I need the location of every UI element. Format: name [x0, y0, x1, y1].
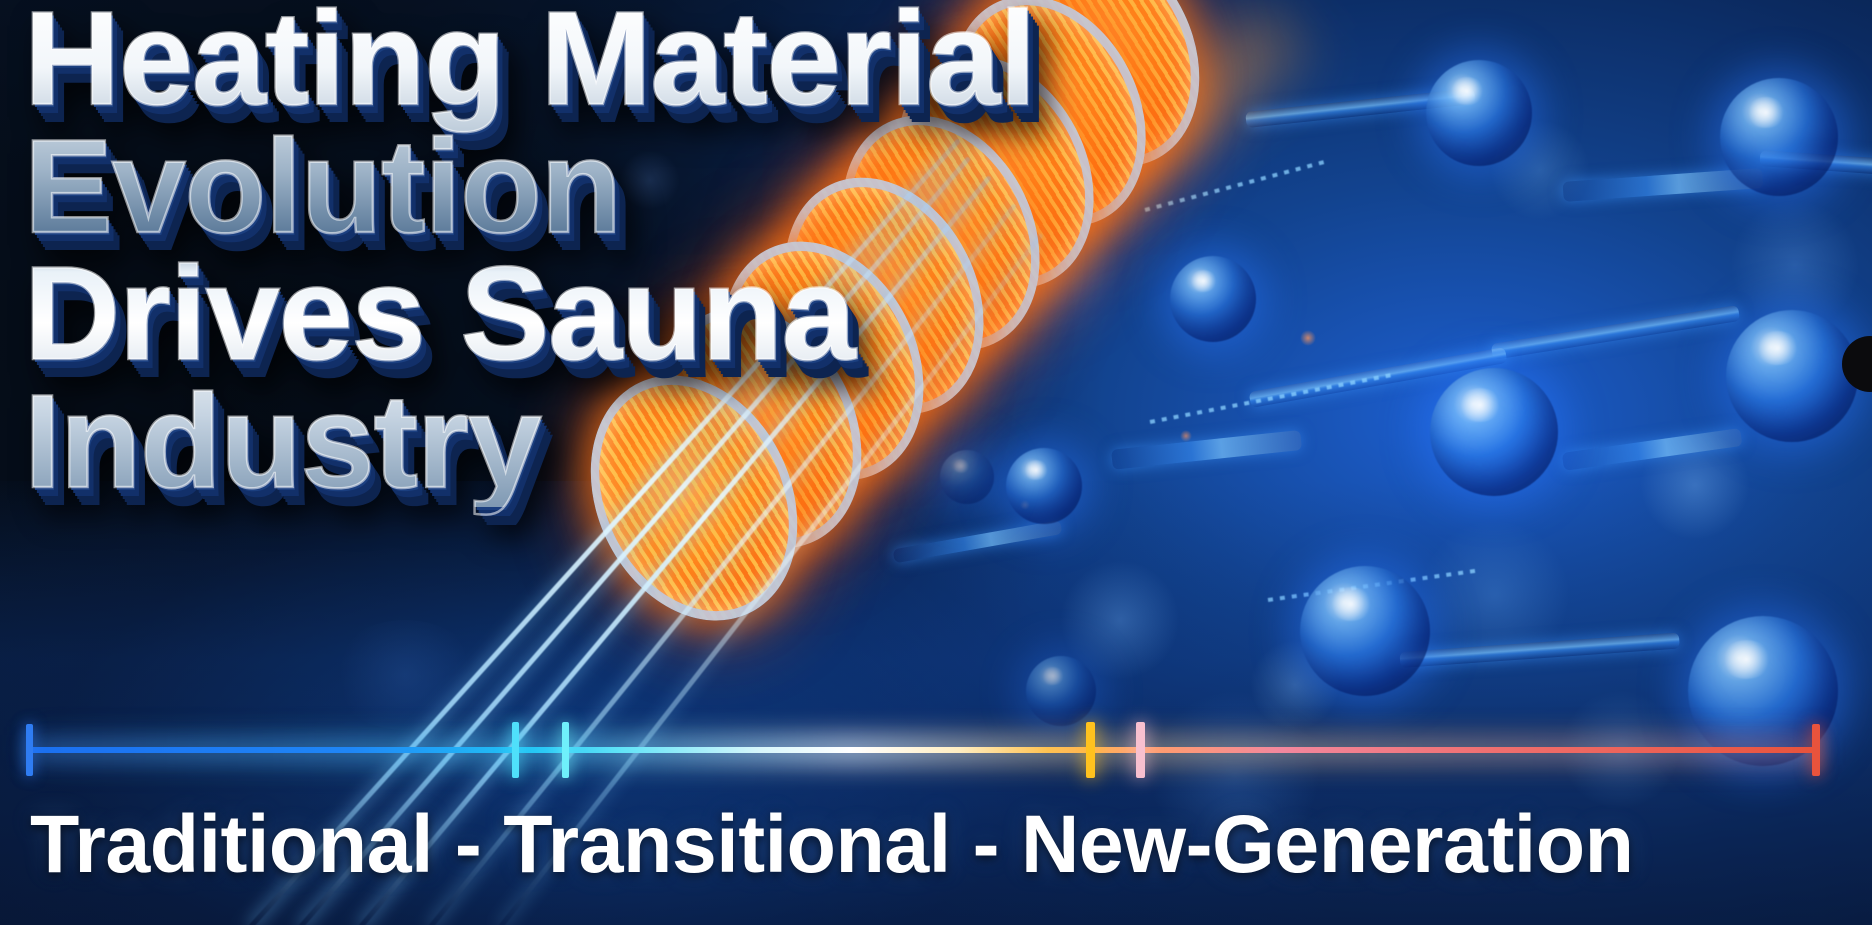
molecule-bond [1491, 305, 1740, 360]
molecule-atom [1720, 78, 1838, 196]
banner-graphic: Heating Material Evolution Drives Sauna … [0, 0, 1872, 925]
tick-transitional-start [562, 722, 569, 778]
timeline-caption: Traditional - Transitional - New-Generat… [30, 798, 1815, 892]
molecule-bond [893, 520, 1063, 563]
molecule-atom [1430, 368, 1558, 496]
timeline-axis [28, 747, 1818, 753]
molecule-bond [1562, 428, 1743, 471]
molecule-atom [1726, 310, 1858, 442]
molecule-atom [1426, 60, 1532, 166]
tick-end-newgen [1812, 724, 1820, 776]
tick-start-traditional [26, 724, 33, 776]
tick-traditional-end [512, 722, 519, 778]
molecule-atom [1026, 656, 1096, 726]
tick-transitional-end [1086, 722, 1095, 778]
tick-newgen-start [1136, 722, 1145, 778]
molecule-bond [1399, 632, 1679, 667]
page-title: Heating Material Evolution Drives Sauna … [24, 0, 1204, 507]
molecule-atom [1300, 566, 1430, 696]
